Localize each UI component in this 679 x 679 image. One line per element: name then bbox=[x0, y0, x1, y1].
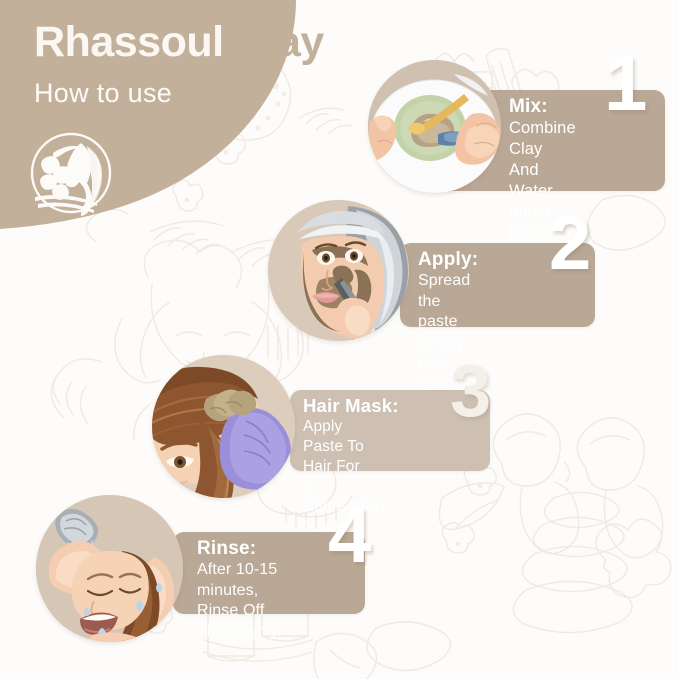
infographic-canvas: Rhassoul Clay How to use 1 Mix: Combi bbox=[0, 0, 679, 679]
step-3-image bbox=[152, 355, 295, 498]
step-3-number: 3 bbox=[450, 354, 491, 428]
page-title-secondary: Clay bbox=[224, 18, 324, 66]
step-4-body: After 10-15 minutes, Rinse Off Thoroughl… bbox=[197, 560, 281, 642]
step-2-number: 2 bbox=[549, 206, 591, 282]
page-title: Rhassoul Clay bbox=[34, 19, 324, 66]
brand-logo-icon bbox=[21, 131, 121, 216]
step-4-number: 4 bbox=[328, 496, 371, 574]
step-1-image bbox=[368, 60, 501, 193]
step-3-title: Hair Mask: bbox=[303, 395, 399, 417]
step-4-image bbox=[36, 495, 183, 642]
step-2-title: Apply: bbox=[418, 249, 478, 271]
page-title-primary: Rhassoul bbox=[34, 18, 224, 66]
step-1-title: Mix: bbox=[509, 96, 548, 118]
step-4-title: Rinse: bbox=[197, 538, 256, 560]
page-subtitle: How to use bbox=[34, 78, 172, 109]
step-1-number: 1 bbox=[604, 44, 647, 122]
step-2-image bbox=[268, 200, 409, 341]
